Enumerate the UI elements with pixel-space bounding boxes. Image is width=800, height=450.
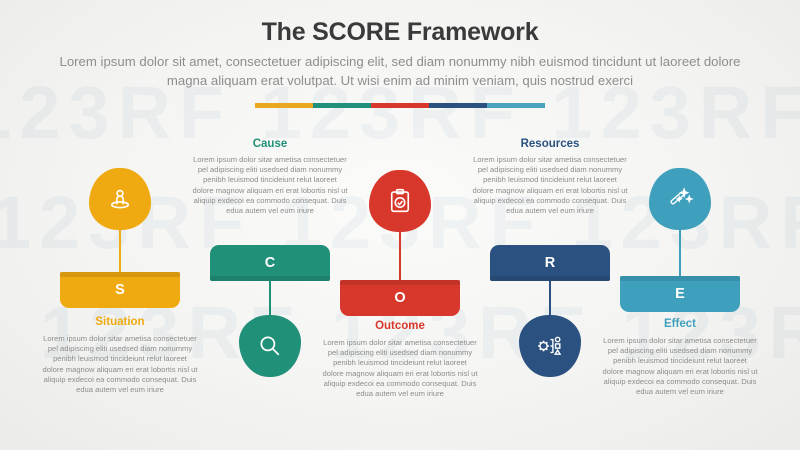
effect-body-text: Lorem ipsum dolor sitar ametisa consecte… [602,336,758,397]
score-column-situation[interactable]: S Situation Lorem ipsum dolor sitar amet… [40,0,200,450]
plate-lip [340,280,460,285]
situation-letter-plate[interactable]: S [60,272,180,308]
resources-pin-marker[interactable] [519,315,581,377]
outcome-connector [399,230,401,282]
cause-letter: C [265,255,275,271]
magic-wand-icon [665,184,695,214]
cause-pin-marker[interactable] [239,315,301,377]
effect-connector [679,228,681,278]
gear-branches-icon [535,331,565,361]
situation-pin-marker[interactable] [89,168,151,230]
effect-letter-plate[interactable]: E [620,276,740,312]
person-location-icon [105,184,135,214]
situation-letter: S [115,282,125,298]
resources-letter: R [545,255,555,271]
outcome-letter-plate[interactable]: O [340,280,460,316]
score-column-effect[interactable]: E Effect Lorem ipsum dolor sitar ametisa… [600,0,760,450]
resources-connector [549,281,551,319]
effect-heading: Effect [600,318,760,330]
plate-lip [60,272,180,277]
outcome-heading: Outcome [320,320,480,332]
cause-letter-plate[interactable]: C [210,245,330,281]
situation-body-text: Lorem ipsum dolor sitar ametisa consecte… [42,334,198,395]
plate-lip [620,276,740,281]
clipboard-check-icon [385,186,415,216]
outcome-body-text: Lorem ipsum dolor sitar ametisa consecte… [322,338,478,399]
cause-connector [269,281,271,319]
outcome-pin-marker[interactable] [369,170,431,232]
magnifier-icon [255,331,285,361]
situation-connector [119,228,121,274]
infographic-canvas: 123RF 123RF 123RF 123RF 123RF 123RF 123R… [0,0,800,450]
score-column-outcome[interactable]: O Outcome Lorem ipsum dolor sitar ametis… [320,0,480,450]
outcome-letter: O [394,290,405,306]
situation-heading: Situation [40,316,200,328]
effect-pin-marker[interactable] [649,168,711,230]
resources-letter-plate[interactable]: R [490,245,610,281]
effect-letter: E [675,286,685,302]
